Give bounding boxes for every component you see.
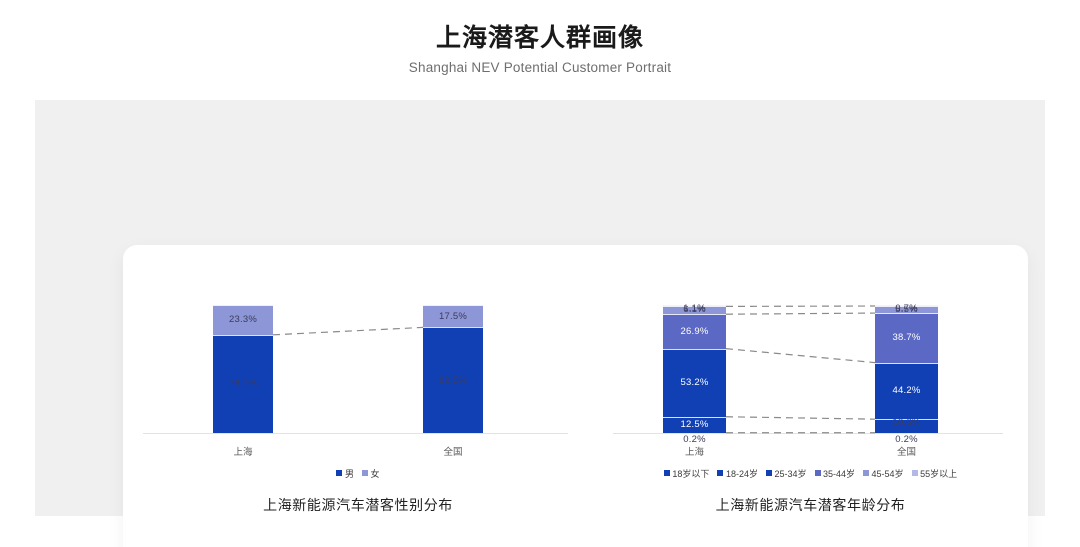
plot-area: 0.2%12.5%53.2%26.9%6.1%1.1%上海0.2%10.6%44… — [593, 245, 1028, 455]
charts-card: 76.7%23.3%上海82.5%17.5%全国男女上海新能源汽车潜客性别分布 … — [123, 245, 1028, 547]
legend-swatch-icon — [717, 470, 723, 476]
legend-item-label: 18-24岁 — [726, 469, 758, 479]
legend-swatch-icon — [912, 470, 918, 476]
legend-item-label: 25-34岁 — [774, 469, 806, 479]
legend-item[interactable]: 18岁以下 — [664, 467, 710, 480]
legend-item-label: 男 — [345, 469, 354, 479]
legend-item-label: 45-54岁 — [872, 469, 904, 479]
legend-swatch-icon — [362, 470, 368, 476]
legend-swatch-icon — [815, 470, 821, 476]
legend-swatch-icon — [766, 470, 772, 476]
bar-stack[interactable]: 0.2%12.5%53.2%26.9%6.1%1.1% — [663, 305, 726, 433]
connector-lines — [123, 245, 593, 455]
legend-item-label: 35-44岁 — [823, 469, 855, 479]
x-axis-category-label: 全国 — [423, 444, 483, 458]
legend-swatch-icon — [863, 470, 869, 476]
connector-lines — [593, 245, 1028, 455]
chart-gender-distribution: 76.7%23.3%上海82.5%17.5%全国男女上海新能源汽车潜客性别分布 — [123, 245, 593, 547]
legend-item[interactable]: 男 — [336, 467, 354, 480]
page-root: 上海潜客人群画像 Shanghai NEV Potential Customer… — [0, 0, 1080, 547]
legend-item[interactable]: 55岁以上 — [912, 467, 958, 480]
legend-item-label: 女 — [371, 469, 380, 479]
legend-item-label: 55岁以上 — [920, 469, 957, 479]
legend-item-label: 18岁以下 — [672, 469, 709, 479]
chart-caption: 上海新能源汽车潜客性别分布 — [123, 495, 593, 515]
bar-stack[interactable]: 82.5%17.5% — [423, 305, 483, 433]
bar-stack[interactable]: 0.2%10.6%44.2%38.7%5.5%0.7% — [875, 305, 938, 433]
legend-swatch-icon — [336, 470, 342, 476]
plot-area: 76.7%23.3%上海82.5%17.5%全国 — [123, 245, 593, 455]
content-panel: 76.7%23.3%上海82.5%17.5%全国男女上海新能源汽车潜客性别分布 … — [35, 100, 1045, 516]
chart-caption: 上海新能源汽车潜客年龄分布 — [593, 495, 1028, 515]
legend-item[interactable]: 18-24岁 — [717, 467, 758, 480]
bar-stack[interactable]: 76.7%23.3% — [213, 305, 273, 433]
page-title: 上海潜客人群画像 — [0, 22, 1080, 54]
page-subtitle: Shanghai NEV Potential Customer Portrait — [0, 58, 1080, 78]
page-header: 上海潜客人群画像 Shanghai NEV Potential Customer… — [0, 22, 1080, 78]
chart-legend: 18岁以下18-24岁25-34岁35-44岁45-54岁55岁以上 — [593, 467, 1028, 480]
chart-legend: 男女 — [123, 467, 593, 480]
legend-item[interactable]: 45-54岁 — [863, 467, 904, 480]
legend-item[interactable]: 35-44岁 — [815, 467, 856, 480]
x-axis-category-label: 全国 — [875, 444, 938, 458]
x-axis-category-label: 上海 — [213, 444, 273, 458]
legend-swatch-icon — [664, 470, 670, 476]
legend-item[interactable]: 女 — [362, 467, 380, 480]
legend-item[interactable]: 25-34岁 — [766, 467, 807, 480]
x-axis-category-label: 上海 — [663, 444, 726, 458]
chart-age-distribution: 0.2%12.5%53.2%26.9%6.1%1.1%上海0.2%10.6%44… — [593, 245, 1028, 547]
